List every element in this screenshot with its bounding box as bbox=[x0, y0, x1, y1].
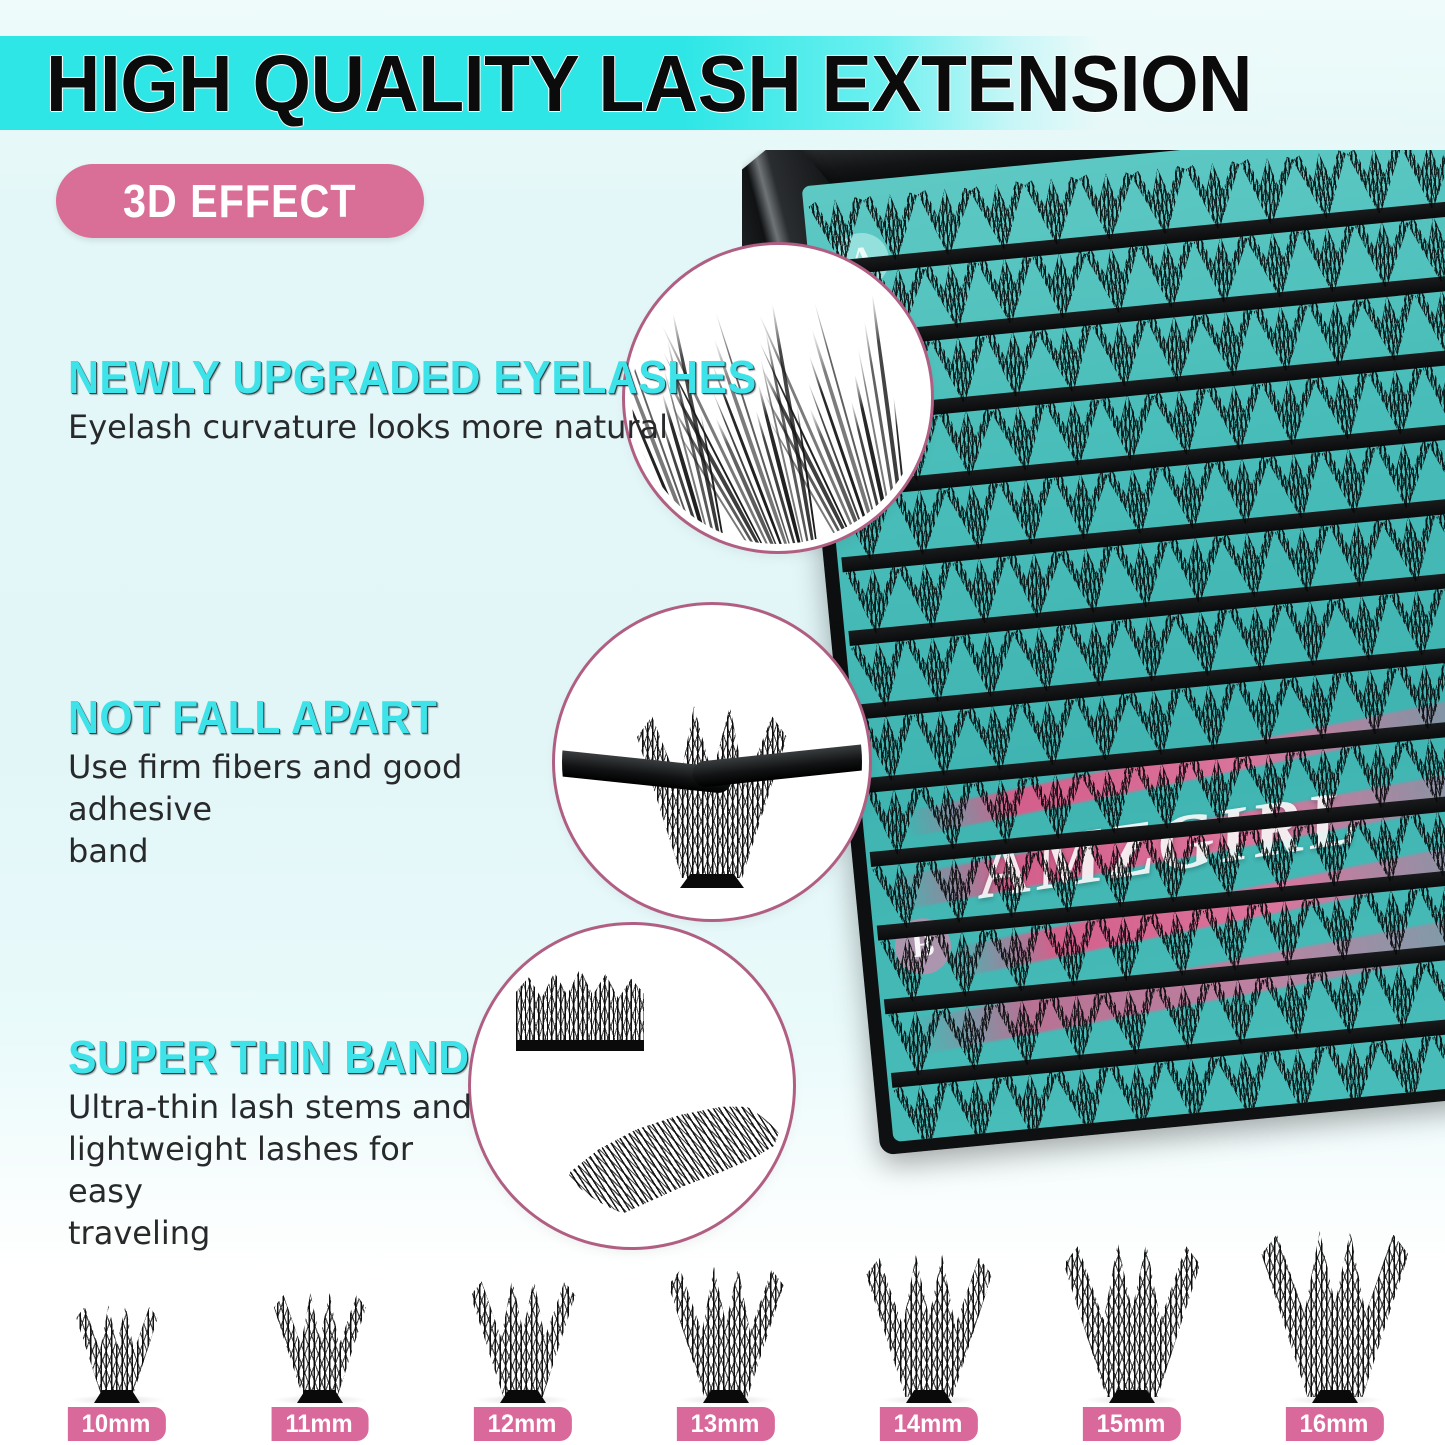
lash-cluster-icon bbox=[927, 854, 987, 925]
lash-cluster-icon bbox=[1389, 587, 1445, 658]
lash-cluster-icon bbox=[1259, 1231, 1412, 1397]
size-label-text: 15mm bbox=[1097, 1410, 1166, 1439]
feature-body-2-line1: Use firm fibers and good adhesive bbox=[68, 748, 462, 828]
page-title: HIGH QUALITY LASH EXTENSION bbox=[46, 40, 986, 128]
lash-cluster-icon bbox=[1139, 239, 1199, 310]
lash-cluster-icon bbox=[973, 776, 1033, 847]
lash-cluster-icon bbox=[1236, 677, 1294, 746]
lash-cluster-icon bbox=[1402, 733, 1445, 805]
lash-cluster-icon bbox=[1096, 913, 1154, 982]
lash-cluster-icon bbox=[1401, 150, 1445, 210]
size-label-text: 16mm bbox=[1300, 1410, 1369, 1439]
lash-cluster-icon bbox=[1423, 362, 1445, 431]
size-label-tag: 15mm bbox=[1083, 1407, 1181, 1441]
size-label-tag: 14mm bbox=[880, 1407, 978, 1441]
lash-cluster-icon bbox=[1432, 1029, 1445, 1100]
feature-heading-1: NEWLY UPGRADED EYELASHES bbox=[68, 352, 645, 402]
lash-cluster-icon bbox=[1257, 898, 1315, 967]
lash-cluster-icon bbox=[918, 187, 976, 256]
lash-cluster-icon bbox=[1275, 524, 1335, 595]
size-sample: 12mm bbox=[428, 1226, 618, 1445]
size-label-tag: 12mm bbox=[474, 1407, 572, 1441]
lash-cluster-icon bbox=[893, 1080, 955, 1142]
feature-block-1: NEWLY UPGRADED EYELASHES Eyelash curvatu… bbox=[68, 352, 688, 448]
size-label-text: 12mm bbox=[488, 1410, 557, 1439]
size-label-text: 11mm bbox=[285, 1410, 352, 1439]
lash-cluster-icon bbox=[1135, 760, 1195, 831]
lash-cluster-icon bbox=[867, 787, 925, 856]
lash-cluster-icon bbox=[935, 929, 993, 998]
lash-cluster-icon bbox=[1410, 808, 1445, 879]
lash-cluster-icon bbox=[1304, 819, 1362, 888]
lash-strip-icon bbox=[516, 964, 644, 1046]
lash-cluster-icon bbox=[1088, 839, 1148, 910]
status-badge-3d-effect: 3D EFFECT bbox=[56, 164, 424, 238]
lash-cluster-icon bbox=[272, 1293, 368, 1397]
lash-cluster-icon bbox=[1207, 381, 1267, 452]
lash-cluster-icon bbox=[1253, 303, 1313, 374]
size-label-tag: 11mm bbox=[272, 1407, 369, 1441]
lash-cluster-icon bbox=[1045, 397, 1105, 468]
lash-cluster-icon bbox=[1424, 954, 1445, 1026]
lash-cluster-icon bbox=[1419, 882, 1445, 951]
thin-band-icon bbox=[516, 1040, 644, 1051]
lash-cluster-icon bbox=[1007, 550, 1065, 619]
size-label-tag: 16mm bbox=[1286, 1407, 1384, 1441]
lash-cluster-icon bbox=[1321, 445, 1381, 516]
lash-cluster-icon bbox=[1156, 981, 1216, 1052]
lash-cluster-icon bbox=[914, 708, 972, 777]
lash-cluster-icon bbox=[1376, 440, 1434, 509]
feature-heading-2: NOT FALL APART bbox=[68, 692, 552, 742]
lash-cluster-icon bbox=[1061, 1243, 1203, 1397]
lash-cluster-icon bbox=[931, 334, 991, 405]
feature-body-3-line2: lightweight lashes for easy bbox=[68, 1130, 413, 1210]
lash-cluster-icon bbox=[1032, 250, 1090, 319]
lash-cluster-icon bbox=[1397, 661, 1445, 730]
lash-cluster-icon bbox=[1300, 224, 1360, 295]
lash-cluster-icon bbox=[1100, 393, 1158, 462]
lash-cluster-icon bbox=[1189, 756, 1247, 825]
lash-cluster-icon bbox=[1249, 823, 1309, 894]
product-infographic: HIGH QUALITY LASH EXTENSION 3D EFFECT AM… bbox=[0, 0, 1445, 1445]
size-label-text: 10mm bbox=[82, 1410, 151, 1439]
lash-cluster-icon bbox=[1079, 172, 1137, 241]
lash-cluster-icon bbox=[905, 633, 965, 704]
lash-cluster-icon bbox=[666, 1267, 786, 1397]
lash-cluster-icon bbox=[977, 255, 1037, 326]
lash-cluster-icon bbox=[1364, 887, 1424, 958]
lash-base-icon bbox=[680, 874, 744, 888]
lash-cluster-icon bbox=[1121, 614, 1179, 683]
feature-body-2: Use firm fibers and good adhesive band bbox=[68, 746, 588, 872]
size-sample: 14mm bbox=[834, 1226, 1024, 1445]
lash-cluster-icon bbox=[1355, 219, 1413, 288]
lash-cluster-icon bbox=[888, 1008, 946, 1077]
size-label-text: 14mm bbox=[894, 1410, 963, 1439]
lash-cluster-icon bbox=[981, 850, 1039, 919]
size-sample: 16mm bbox=[1240, 1226, 1430, 1445]
lash-cluster-icon bbox=[1211, 977, 1269, 1046]
lash-cluster-icon bbox=[1054, 471, 1112, 540]
lash-cluster-icon bbox=[1372, 961, 1430, 1030]
lash-cluster-icon bbox=[1185, 160, 1245, 231]
feature-block-2: NOT FALL APART Use firm fibers and good … bbox=[68, 692, 588, 872]
lash-cluster-icon bbox=[1283, 598, 1341, 667]
feature-block-3: SUPER THIN BAND Ultra-thin lash stems an… bbox=[68, 1032, 488, 1254]
lash-cluster-icon bbox=[864, 1255, 995, 1397]
lash-cluster-icon bbox=[986, 329, 1044, 398]
lash-cluster-icon bbox=[1240, 156, 1298, 225]
lash-cluster-icon bbox=[1329, 519, 1387, 588]
callout-thin-band-lash bbox=[478, 932, 786, 1240]
size-sample: 13mm bbox=[631, 1226, 821, 1445]
lash-cluster-icon bbox=[1160, 460, 1220, 531]
size-label-text: 13mm bbox=[691, 1410, 760, 1439]
lash-cluster-icon bbox=[1092, 318, 1152, 389]
lash-cluster-icon bbox=[1308, 298, 1366, 367]
lash-cluster-icon bbox=[1261, 377, 1319, 446]
lash-cluster-icon bbox=[1368, 366, 1428, 437]
lash-cluster-icon bbox=[1143, 835, 1201, 904]
size-label-tag: 10mm bbox=[68, 1407, 166, 1441]
lash-cluster-icon bbox=[1351, 740, 1409, 809]
lash-cluster-icon bbox=[1415, 287, 1445, 358]
lash-cluster-icon bbox=[880, 933, 940, 1004]
lash-cluster-icon bbox=[1067, 618, 1127, 689]
lash-cluster-icon bbox=[1436, 508, 1445, 579]
lash-cluster-icon bbox=[1181, 681, 1241, 752]
lash-cluster-icon bbox=[1075, 692, 1133, 761]
callout-tweezer-pull-test bbox=[562, 612, 862, 912]
lash-cluster-icon bbox=[1028, 771, 1086, 840]
lash-cluster-icon bbox=[1428, 434, 1445, 506]
lash-cluster-icon bbox=[1296, 745, 1356, 816]
lash-cluster-icon bbox=[960, 629, 1018, 698]
lash-cluster-icon bbox=[1203, 902, 1263, 973]
size-label-tag: 13mm bbox=[677, 1407, 775, 1441]
lash-cluster-icon bbox=[995, 997, 1055, 1068]
lash-cluster-icon bbox=[1020, 697, 1080, 768]
badge-label: 3D EFFECT bbox=[123, 174, 357, 228]
feature-body-1: Eyelash curvature looks more natural bbox=[68, 406, 688, 448]
feature-body-2-line2: band bbox=[68, 832, 149, 870]
lash-cluster-icon bbox=[1168, 535, 1226, 604]
size-sample-row: 10mm11mm12mm13mm14mm15mm16mm bbox=[0, 1226, 1445, 1445]
lash-cluster-icon bbox=[999, 476, 1059, 547]
lash-cluster-icon bbox=[1215, 456, 1273, 525]
lash-cluster-icon bbox=[1317, 966, 1377, 1037]
lash-cluster-icon bbox=[859, 712, 919, 783]
feature-heading-3: SUPER THIN BAND bbox=[68, 1032, 459, 1082]
size-sample: 15mm bbox=[1037, 1226, 1227, 1445]
feature-body-3-line1: Ultra-thin lash stems and bbox=[68, 1088, 472, 1126]
lash-cluster-icon bbox=[469, 1279, 578, 1397]
lash-cluster-icon bbox=[1228, 602, 1288, 673]
lash-cluster-icon bbox=[1049, 992, 1107, 1061]
lash-cluster-icon bbox=[1147, 314, 1205, 383]
lash-cluster-icon bbox=[939, 408, 997, 477]
lash-cluster-icon bbox=[952, 555, 1012, 626]
lash-cluster-icon bbox=[1194, 235, 1252, 304]
lash-cluster-icon bbox=[1342, 666, 1402, 737]
lash-cluster-icon bbox=[1406, 213, 1445, 285]
size-sample: 11mm bbox=[225, 1226, 415, 1445]
lash-cluster-icon bbox=[1041, 918, 1101, 989]
lash-cluster-icon bbox=[75, 1305, 160, 1397]
lash-cluster-icon bbox=[846, 566, 904, 635]
size-sample: 10mm bbox=[22, 1226, 212, 1445]
lash-cluster-icon bbox=[1113, 539, 1173, 610]
lash-cluster-icon bbox=[1024, 176, 1084, 247]
